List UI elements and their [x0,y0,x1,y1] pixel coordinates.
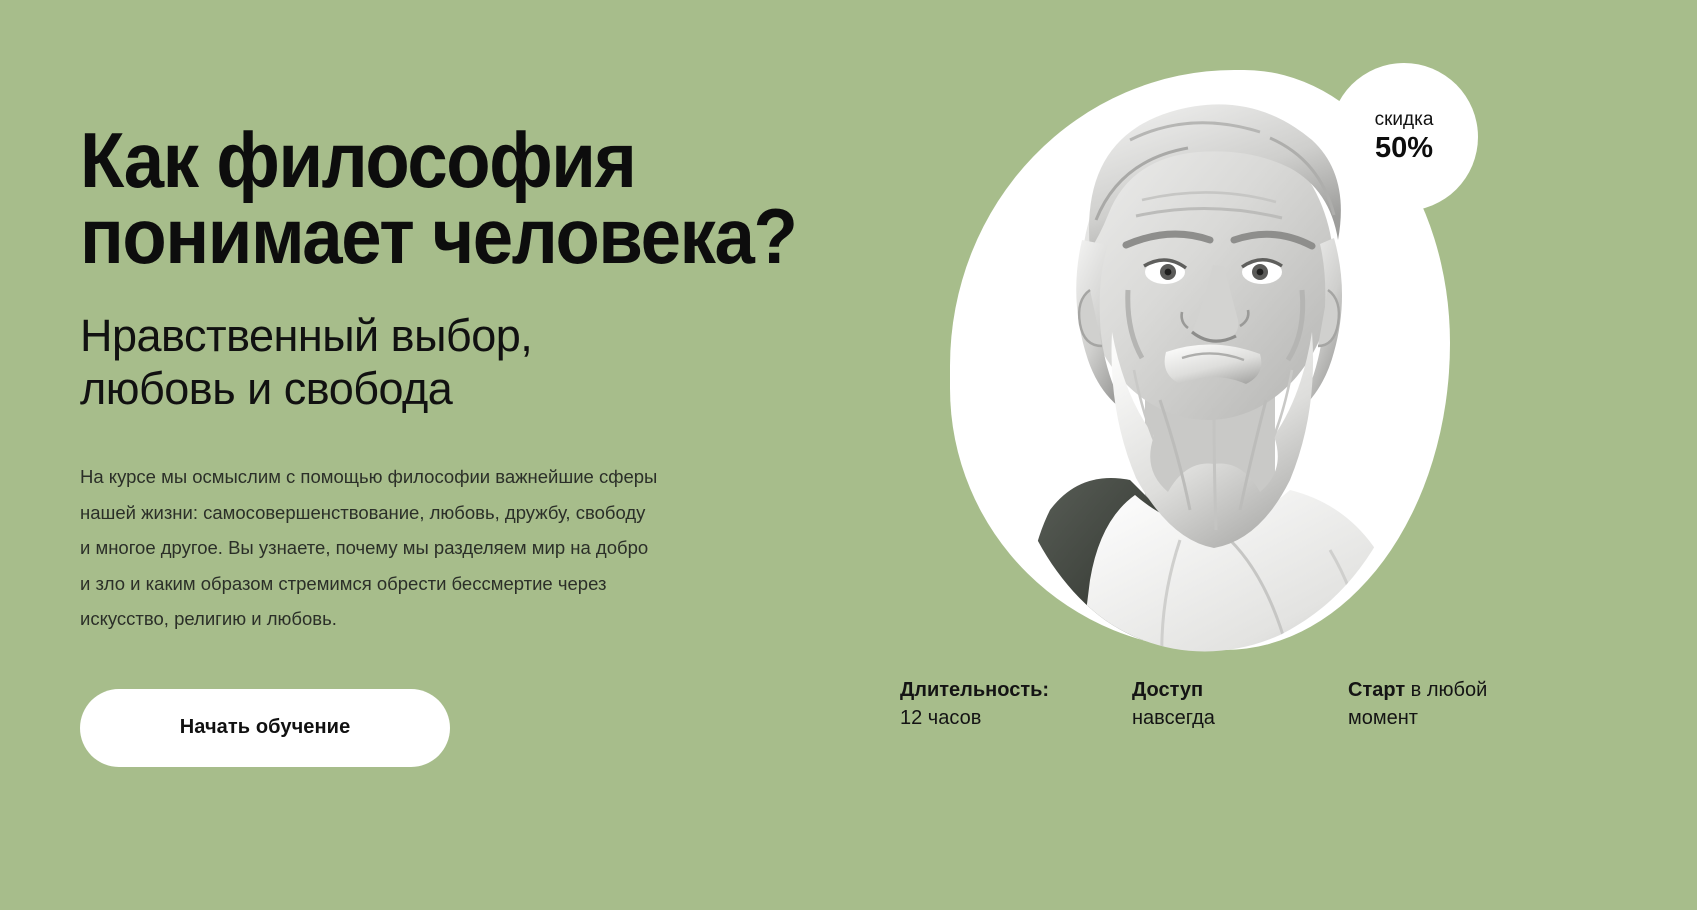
start-learning-button[interactable]: Начать обучение [80,689,450,767]
page-title: Как философия понимает человека? [80,122,898,275]
meta-duration-title: Длительность: [900,679,1049,701]
discount-value: 50% [1375,131,1433,166]
meta-start-rest: в любой [1405,679,1487,701]
meta-start-title: Старт [1348,679,1405,701]
meta-item-start: Старт в любой момент [1348,676,1538,733]
meta-access-value: навсегда [1132,707,1215,729]
page-subtitle: Нравственный выбор, любовь и свобода [80,309,960,415]
meta-start-value: момент [1348,707,1418,729]
hero-section: скидка 50% Как философия понимает челове… [0,0,1697,910]
hero-copy: Как философия понимает человека? Нравств… [80,122,960,767]
meta-access-title: Доступ [1132,679,1203,701]
meta-duration-value: 12 часов [900,707,981,729]
discount-label: скидка [1375,108,1434,132]
course-meta-row: Длительность: 12 часов Доступ навсегда С… [900,676,1538,733]
meta-item-access: Доступ навсегда [1132,676,1292,733]
course-description: На курсе мы осмыслим с помощью философии… [80,459,780,637]
discount-badge: скидка 50% [1330,63,1478,211]
meta-item-duration: Длительность: 12 часов [900,676,1076,733]
